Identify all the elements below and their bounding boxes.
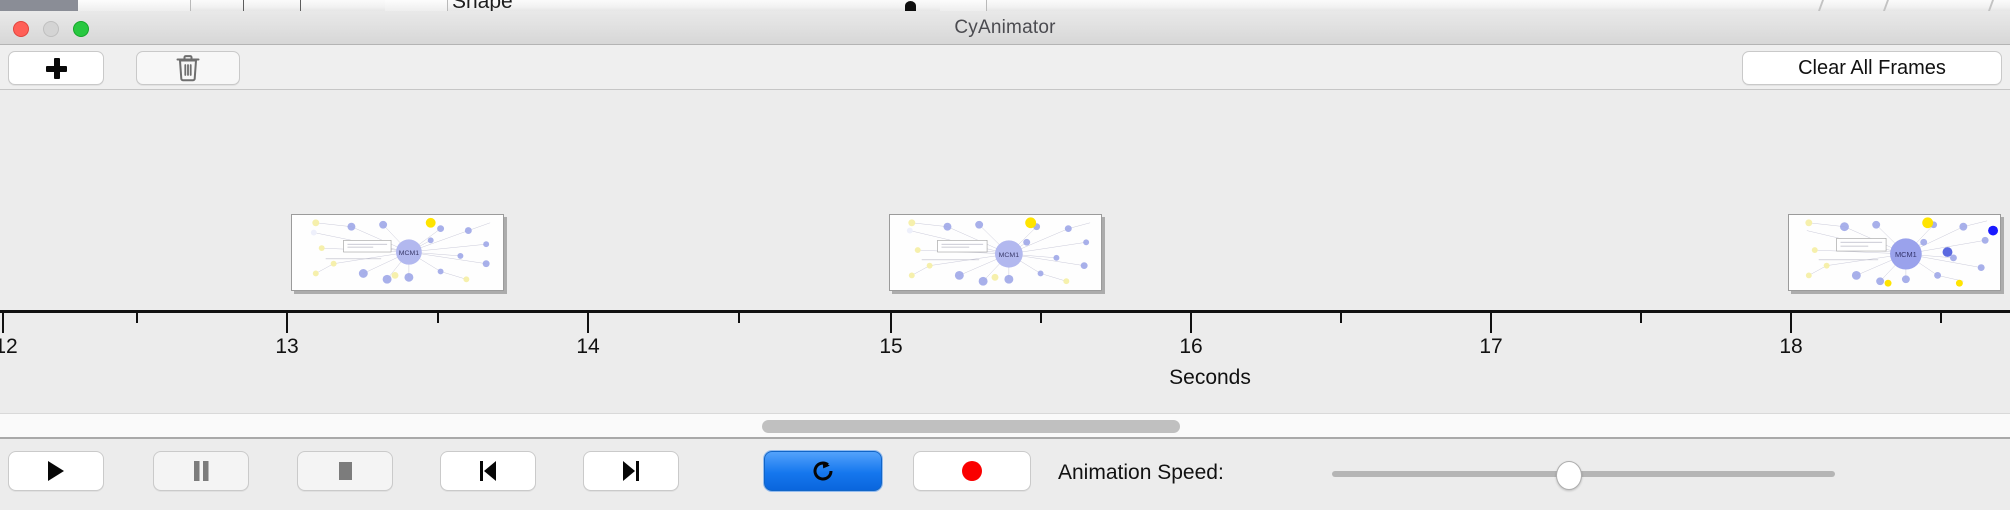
frame-thumbnail-2[interactable]: MCM1 — [889, 214, 1102, 291]
axis-label-18: 18 — [1779, 335, 1802, 359]
add-frame-button[interactable] — [8, 51, 104, 85]
background-divider — [1883, 0, 1899, 11]
plus-icon — [46, 58, 67, 79]
axis-label-17: 17 — [1479, 335, 1502, 359]
background-divider — [1818, 0, 1834, 11]
svg-text:MCM1: MCM1 — [999, 252, 1020, 259]
axis-tick-minor — [738, 313, 740, 323]
record-button[interactable] — [913, 451, 1031, 491]
background-tick — [300, 0, 301, 11]
network-graph-preview: MCM1 — [890, 215, 1101, 290]
play-icon — [45, 459, 67, 483]
stop-button[interactable] — [297, 451, 393, 491]
clear-all-frames-button[interactable]: Clear All Frames — [1742, 51, 2002, 85]
axis-tick-minor — [1940, 313, 1942, 323]
clear-all-frames-label: Clear All Frames — [1798, 57, 1946, 80]
network-graph-preview: MCM1 — [292, 215, 503, 290]
axis-tick-major — [2, 313, 4, 333]
axis-label-14: 14 — [576, 335, 599, 359]
loop-icon — [810, 458, 836, 484]
timeline-axis — [0, 310, 2010, 313]
background-cell — [78, 0, 151, 11]
axis-label-12: 12 — [0, 335, 18, 359]
skip-start-icon — [477, 459, 499, 483]
background-marker-icon — [905, 1, 916, 11]
record-icon — [960, 459, 984, 483]
frame-thumbnail-1[interactable]: MCM1 — [291, 214, 504, 291]
animation-speed-label: Animation Speed: — [1058, 461, 1224, 485]
background-tick — [243, 0, 244, 11]
scrollbar-thumb[interactable] — [762, 420, 1180, 433]
background-toolbar-block — [0, 0, 78, 11]
title-bar[interactable]: CyAnimator — [0, 11, 2010, 45]
skip-end-icon — [620, 459, 642, 483]
axis-tick-minor — [437, 313, 439, 323]
pause-button[interactable] — [153, 451, 249, 491]
background-cell — [940, 0, 987, 11]
axis-tick-minor — [1040, 313, 1042, 323]
trash-icon — [175, 54, 201, 82]
cyanimator-window: Shape CyAnimator Clear All Frames — [0, 0, 2010, 510]
loop-button[interactable] — [764, 451, 882, 491]
playback-control-bar: Animation Speed: — [0, 441, 2010, 510]
frame-toolbar: Clear All Frames — [0, 45, 2010, 90]
timeline-scrollbar[interactable] — [0, 413, 2010, 439]
pause-icon — [191, 459, 211, 483]
background-shape-label: Shape — [452, 0, 513, 11]
timeline-panel[interactable]: MCM1 — [0, 90, 2010, 413]
axis-tick-major — [1490, 313, 1492, 333]
background-cell — [150, 0, 191, 11]
svg-text:MCM1: MCM1 — [1895, 250, 1917, 259]
axis-tick-minor — [1640, 313, 1642, 323]
stop-icon — [335, 459, 355, 483]
axis-tick-minor — [1340, 313, 1342, 323]
animation-speed-slider-thumb[interactable] — [1556, 461, 1582, 490]
skip-to-start-button[interactable] — [440, 451, 536, 491]
background-divider — [1988, 0, 2004, 11]
background-cell — [385, 0, 448, 11]
axis-label-16: 16 — [1179, 335, 1202, 359]
network-graph-preview: MCM1 — [1789, 215, 2000, 290]
play-button[interactable] — [8, 451, 104, 491]
skip-to-end-button[interactable] — [583, 451, 679, 491]
axis-label-13: 13 — [275, 335, 298, 359]
axis-tick-major — [587, 313, 589, 333]
axis-label-15: 15 — [879, 335, 902, 359]
svg-text:MCM1: MCM1 — [399, 250, 420, 257]
axis-title: Seconds — [1169, 366, 1251, 390]
axis-tick-major — [1190, 313, 1192, 333]
background-window-strip: Shape — [0, 0, 2010, 11]
window-title: CyAnimator — [0, 17, 2010, 39]
animation-speed-slider[interactable] — [1332, 471, 1835, 477]
frame-thumbnail-3[interactable]: MCM1 — [1788, 214, 2001, 291]
axis-tick-minor — [136, 313, 138, 323]
axis-tick-major — [286, 313, 288, 333]
axis-tick-major — [1790, 313, 1792, 333]
axis-tick-major — [890, 313, 892, 333]
delete-frame-button[interactable] — [136, 51, 240, 85]
